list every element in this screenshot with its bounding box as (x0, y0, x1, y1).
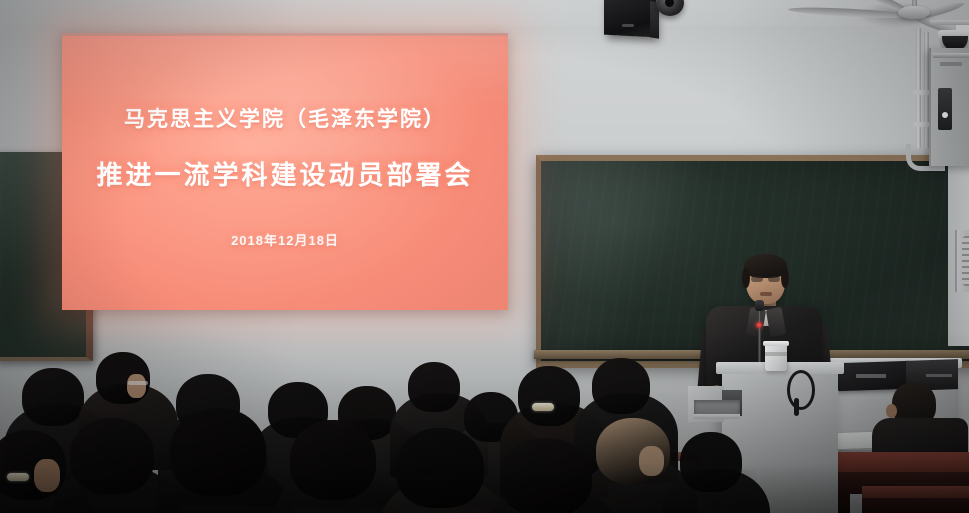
audience-head (592, 358, 650, 414)
ceiling-pipe (930, 20, 969, 25)
wall-speaker-icon (604, 0, 656, 37)
air-vent (955, 230, 969, 292)
microphone-stem (758, 306, 761, 370)
wooden-desk-front (862, 498, 969, 513)
audience-head (500, 438, 592, 513)
slide-title-line-2: 推进一流学科建设动员部署会 (96, 155, 473, 192)
audience-face (127, 374, 145, 398)
paper-cup-lid (763, 341, 789, 346)
audience-head (170, 408, 266, 496)
slide-date: 2018年12月18日 (231, 230, 339, 249)
audience-glasses-icon (128, 381, 148, 385)
electrical-panel-label (940, 62, 962, 66)
audience-head (680, 432, 742, 492)
audience-hair-clip-icon (532, 403, 554, 411)
electrical-panel-indicator (942, 112, 948, 118)
audience-head (70, 418, 154, 494)
microphone-icon (755, 300, 764, 311)
audience-hair-clip-icon (7, 473, 29, 481)
coiled-cable-icon (787, 370, 815, 410)
slide-title-line-1: 马克思主义学院（毛泽东学院） (124, 103, 446, 133)
av-console-right-label (926, 374, 952, 377)
ceiling-fan-hub (898, 6, 930, 19)
audience-person (500, 438, 632, 513)
electrical-panel-lid (933, 53, 969, 58)
conduit-pipe (916, 28, 921, 148)
audience-head (396, 428, 484, 508)
paper-cup-band (765, 352, 787, 356)
audience-head (518, 366, 580, 426)
av-monitor-label (856, 374, 886, 378)
presenter-eye-left (751, 276, 763, 282)
projection-screen: 马克思主义学院（毛泽东学院） 推进一流学科建设动员部署会 2018年12月18日 (62, 33, 508, 310)
audience-face (34, 459, 60, 491)
audience-head (290, 420, 376, 500)
slide-content: 马克思主义学院（毛泽东学院） 推进一流学科建设动员部署会 2018年12月18日 (62, 33, 508, 310)
wall-speaker-badge (622, 24, 634, 27)
lecture-hall-photo: 马克思主义学院（毛泽东学院） 推进一流学科建设动员部署会 2018年12月18日 (0, 0, 969, 513)
electrical-panel-switch-strip (938, 88, 952, 130)
audience-head (408, 362, 460, 412)
presenter-hair-side (742, 268, 750, 288)
presenter-mouth (760, 292, 772, 296)
audience-person (680, 432, 782, 513)
seated-operator-ear (886, 404, 897, 418)
microphone-indicator-led (756, 322, 762, 328)
audience-face (639, 446, 664, 476)
paper-cup-icon (765, 344, 787, 371)
presenter-eye-right (768, 276, 780, 282)
presenter-hair-side (781, 268, 789, 288)
cable-end (794, 398, 799, 416)
